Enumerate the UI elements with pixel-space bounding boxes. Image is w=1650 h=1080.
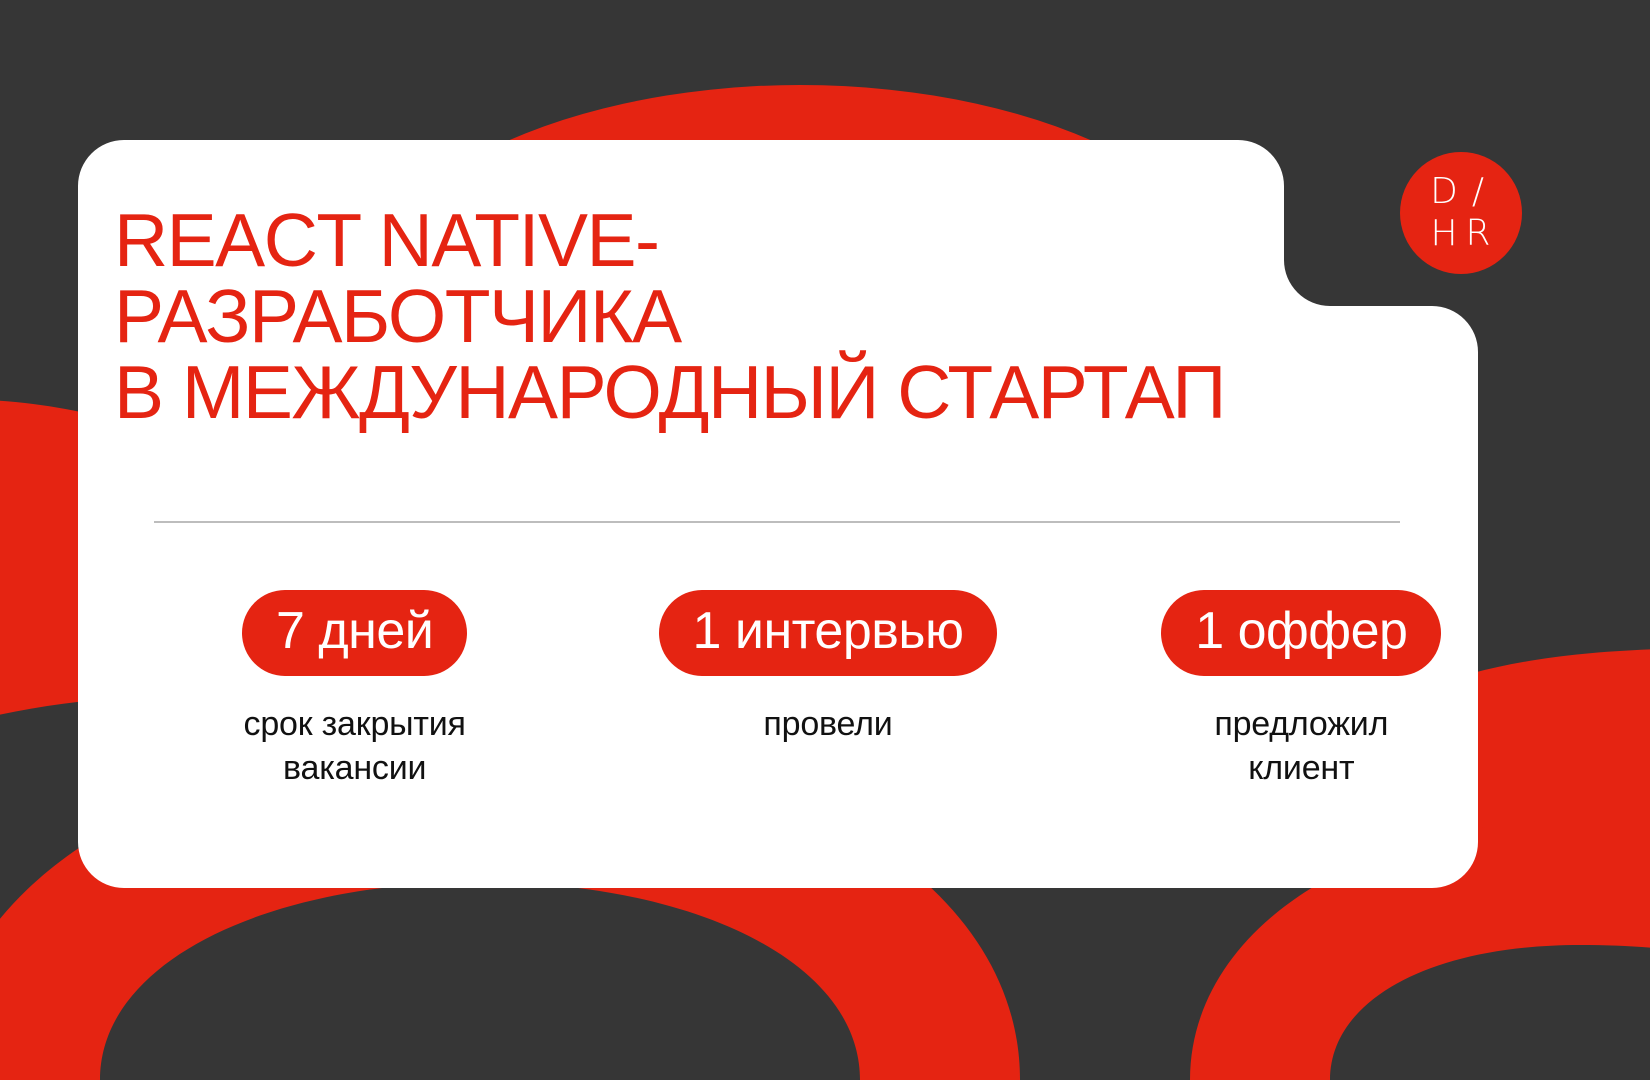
page-title: REACT NATIVE- РАЗРАБОТЧИКА В МЕЖДУНАРОДН…	[114, 202, 1534, 430]
stat-interviews-caption: провели	[763, 702, 892, 746]
logo-letter-d: D	[1430, 174, 1458, 210]
stat-days: 7 дней срок закрытия вакансии	[118, 590, 591, 790]
stat-offers-caption: предложил клиент	[1214, 702, 1388, 790]
poster-canvas: D / H R REACT NATIVE- РАЗРАБОТЧИКА В МЕЖ…	[0, 0, 1650, 1080]
stat-days-caption: срок закрытия вакансии	[244, 702, 466, 790]
dhr-logo[interactable]: D / H R	[1400, 152, 1522, 274]
stat-days-badge: 7 дней	[242, 590, 467, 676]
stat-interviews-badge: 1 интервью	[659, 590, 998, 676]
section-divider	[154, 521, 1400, 523]
logo-slash-icon: /	[1472, 174, 1484, 210]
stat-offers-badge: 1 оффер	[1161, 590, 1441, 676]
logo-letter-r: R	[1465, 216, 1490, 252]
stat-interviews: 1 интервью провели	[591, 590, 1064, 746]
stat-offers: 1 оффер предложил клиент	[1065, 590, 1538, 790]
logo-letter-h: H	[1430, 216, 1457, 252]
logo-letter-grid: D / H R	[1427, 171, 1495, 255]
card-content: REACT NATIVE- РАЗРАБОТЧИКА В МЕЖДУНАРОДН…	[78, 140, 1578, 888]
stats-row: 7 дней срок закрытия вакансии 1 интервью…	[118, 590, 1538, 790]
